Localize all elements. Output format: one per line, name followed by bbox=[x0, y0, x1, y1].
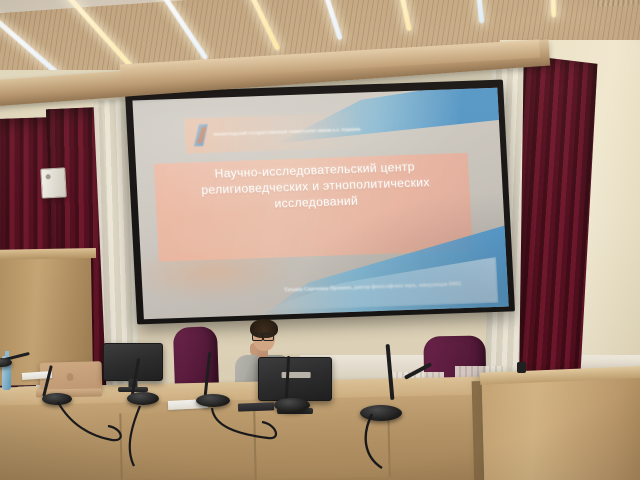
seated-man-glasses-bridge bbox=[261, 335, 263, 336]
slide-title-band: Научно-исследовательский центр религиове… bbox=[154, 152, 473, 261]
lectern-mic-nub bbox=[517, 362, 526, 373]
ceiling-vent bbox=[593, 0, 640, 7]
seated-man-glasses-right bbox=[263, 333, 274, 341]
apple-logo-icon bbox=[66, 373, 73, 381]
strip-light-8 bbox=[550, 0, 557, 18]
monitor-left-panel bbox=[103, 343, 163, 381]
slide-surface: Ленинградский государственный университе… bbox=[132, 88, 508, 319]
projection-screen: Ленинградский государственный университе… bbox=[125, 80, 515, 325]
slide-logo-text: Ленинградский государственный университе… bbox=[213, 128, 361, 137]
slide-title: Научно-исследовательский центр религиове… bbox=[173, 159, 458, 216]
university-logo-icon bbox=[193, 124, 209, 146]
wall-speaker-icon bbox=[40, 167, 67, 198]
conference-room-photo: Ленинградский государственный университе… bbox=[0, 0, 640, 480]
slide-logo: Ленинградский государственный университе… bbox=[185, 112, 363, 153]
podium-top bbox=[0, 248, 96, 260]
lectern bbox=[482, 373, 640, 480]
